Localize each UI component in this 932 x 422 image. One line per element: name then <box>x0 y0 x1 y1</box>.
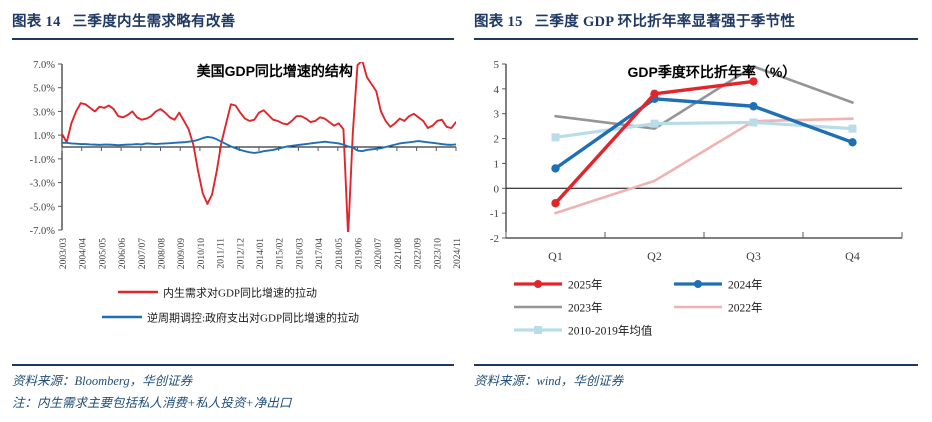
x-axis-tick-label: 2020/07 <box>374 238 384 269</box>
exhibit-caption-14: 三季度内生需求略有改善 <box>73 14 236 30</box>
y-axis-tick-label: 5 <box>494 59 500 71</box>
y-axis-tick-label: 1.0% <box>33 131 55 142</box>
y-axis-tick-label: -5.0% <box>30 202 56 213</box>
exhibit-panel-15: 图表 15三季度 GDP 环比折年率显著强于季节性 543210-1-2Q1Q2… <box>466 0 932 422</box>
legend-label-0: 内生需求对GDP同比增速的拉动 <box>163 286 317 300</box>
series-line-1 <box>556 99 853 169</box>
x-axis-category-label: Q1 <box>548 249 563 263</box>
series-marker-4 <box>750 118 758 126</box>
x-axis-tick-label: 2010/10 <box>197 238 207 269</box>
exhibit-caption-15: 三季度 GDP 环比折年率显著强于季节性 <box>535 14 796 30</box>
x-axis-tick-label: 2014/01 <box>256 238 266 269</box>
y-axis-tick-label: 1 <box>494 158 500 170</box>
x-axis-tick-label: 2021/08 <box>394 238 404 269</box>
series-marker-4 <box>849 125 857 133</box>
x-axis-tick-label: 2019/06 <box>355 238 365 269</box>
x-axis-tick-label: 2018/05 <box>335 238 345 269</box>
x-axis-tick-label: 2015/02 <box>276 238 286 269</box>
y-axis-tick-label: 0 <box>494 183 500 195</box>
x-axis-tick-label: 2005/05 <box>98 238 108 269</box>
y-axis-tick-label: 7.0% <box>33 60 55 71</box>
x-axis-category-label: Q3 <box>746 249 761 263</box>
source-line-14: 资料来源：Bloomberg，华创证券 <box>12 370 458 392</box>
chart-svg-left: 7.0%5.0%3.0%1.0%-1.0%-3.0%-5.0%-7.0%2003… <box>0 48 466 348</box>
y-axis-tick-label: 3 <box>494 109 500 121</box>
exhibit-title-row-14: 图表 14三季度内生需求略有改善 <box>12 10 456 31</box>
series-marker-0 <box>551 199 559 207</box>
legend-label-2: 2023年 <box>568 301 603 315</box>
exhibit-title-row-15: 图表 15三季度 GDP 环比折年率显著强于季节性 <box>474 10 922 31</box>
exhibit-panel-14: 图表 14三季度内生需求略有改善 7.0%5.0%3.0%1.0%-1.0%-3… <box>0 0 466 422</box>
chart-title-right: GDP季度环比折年率（%） <box>628 64 797 80</box>
x-axis-tick-label: 2008/08 <box>158 238 168 269</box>
x-axis-tick-label: 2016/03 <box>295 238 305 269</box>
footer-divider-15 <box>474 364 918 366</box>
y-axis-tick-label: -2 <box>490 233 499 245</box>
x-axis-tick-label: 2006/06 <box>118 238 128 269</box>
chart-us-gdp-structure: 7.0%5.0%3.0%1.0%-1.0%-3.0%-5.0%-7.0%2003… <box>0 48 466 348</box>
x-axis-tick-label: 2023/10 <box>433 238 443 269</box>
legend-label-0: 2025年 <box>568 278 603 292</box>
y-axis-tick-label: -1 <box>490 208 499 220</box>
legend-marker-1 <box>694 280 702 288</box>
chart-svg-right: 543210-1-2Q1Q2Q3Q4GDP季度环比折年率（%）2025年2024… <box>466 48 932 348</box>
x-axis-tick-label: 2009/09 <box>177 238 187 269</box>
y-axis-tick-label: 2 <box>494 134 500 146</box>
y-axis-tick-label: -7.0% <box>30 226 56 237</box>
series-marker-1 <box>551 164 559 172</box>
y-axis-tick-label: -3.0% <box>30 179 56 190</box>
x-axis-tick-label: 2024/11 <box>453 238 463 269</box>
x-axis-tick-label: 2003/03 <box>59 238 69 269</box>
y-axis-tick-label: 5.0% <box>33 84 55 95</box>
series-marker-0 <box>650 90 658 98</box>
x-axis-tick-label: 2012/12 <box>236 238 246 269</box>
series-marker-4 <box>651 120 659 128</box>
legend-label-4: 2010-2019年均值 <box>568 324 653 338</box>
legend-marker-4 <box>534 326 542 334</box>
chart-gdp-qoq-saar: 543210-1-2Q1Q2Q3Q4GDP季度环比折年率（%）2025年2024… <box>466 48 932 348</box>
source-line-15: 资料来源：wind，华创证券 <box>474 370 924 392</box>
footer-15: 资料来源：wind，华创证券 <box>474 370 924 392</box>
series-line-3 <box>556 119 853 213</box>
series-marker-1 <box>848 138 856 146</box>
header-divider-14 <box>12 38 454 40</box>
legend-label-1: 2024年 <box>728 278 763 292</box>
exhibit-number-15: 图表 15 <box>474 14 523 30</box>
legend-label-3: 2022年 <box>728 301 763 315</box>
x-axis-tick-label: 2007/07 <box>138 238 148 269</box>
header-divider-15 <box>474 38 918 40</box>
chart-title-left: 美国GDP同比增速的结构 <box>197 63 353 79</box>
x-axis-tick-label: 2017/04 <box>315 238 325 269</box>
legend-marker-0 <box>534 280 542 288</box>
y-axis-tick-label: 4 <box>494 84 500 96</box>
x-axis-category-label: Q4 <box>845 249 860 263</box>
y-axis-tick-label: -1.0% <box>30 155 56 166</box>
x-axis-tick-label: 2004/04 <box>79 238 89 269</box>
figure-page: 图表 14三季度内生需求略有改善 7.0%5.0%3.0%1.0%-1.0%-3… <box>0 0 932 422</box>
series-marker-1 <box>749 102 757 110</box>
footer-14: 资料来源：Bloomberg，华创证券 注：内生需求主要包括私人消费+私人投资+… <box>12 370 458 414</box>
exhibit-number-14: 图表 14 <box>12 14 61 30</box>
legend-label-1: 逆周期调控:政府支出对GDP同比增速的拉动 <box>147 311 359 325</box>
series-marker-4 <box>552 133 560 141</box>
footer-divider-14 <box>12 364 454 366</box>
x-axis-tick-label: 2011/11 <box>217 238 227 269</box>
x-axis-tick-label: 2022/09 <box>414 238 424 269</box>
y-axis-tick-label: 3.0% <box>33 107 55 118</box>
note-line-14: 注：内生需求主要包括私人消费+私人投资+净出口 <box>12 392 458 414</box>
x-axis-category-label: Q2 <box>647 249 662 263</box>
